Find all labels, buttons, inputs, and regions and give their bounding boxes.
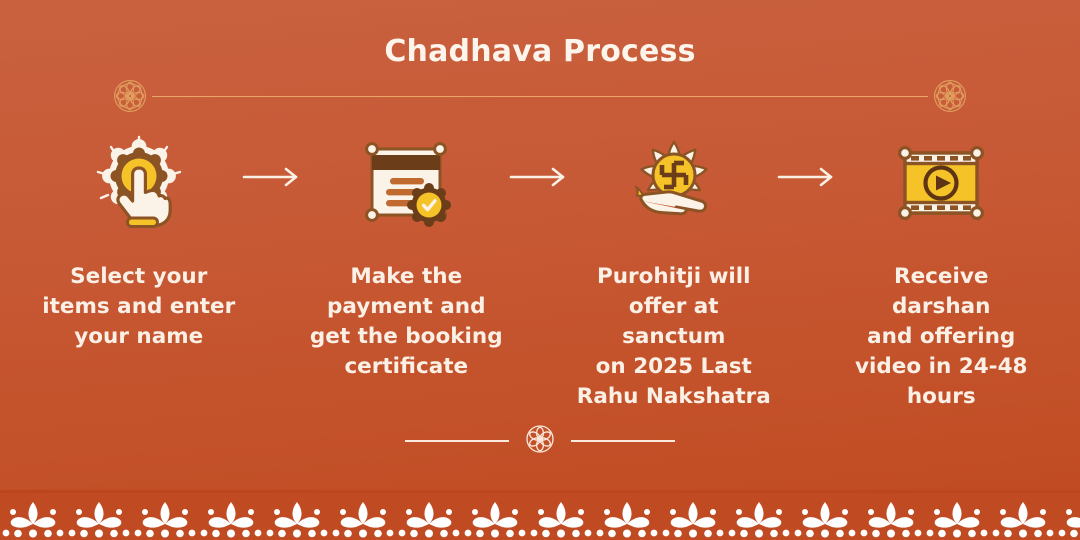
divider-line-left: [405, 440, 509, 441]
arrow-right-icon: [505, 166, 575, 188]
video-play-filmstrip-icon: [891, 132, 991, 236]
process-steps: Select your items and enter your name: [40, 132, 1040, 402]
process-step-label: Select your items and enter your name: [42, 262, 235, 352]
lotus-petal-border: [0, 490, 1080, 540]
divider-line-right: [571, 440, 675, 441]
top-ornamental-rule: [112, 78, 968, 114]
bottom-ornamental-divider: [405, 424, 675, 458]
rosette-flower-icon: [525, 424, 555, 458]
rosette-medallion-icon: [932, 78, 968, 114]
hand-offering-swastika-icon: [624, 132, 724, 236]
arrow-right-icon: [238, 166, 308, 188]
rule-line: [152, 96, 928, 97]
process-step-label: Purohitji will offer at sanctum on 2025 …: [575, 262, 773, 412]
hand-tap-select-icon: [89, 132, 189, 236]
process-step-1: Select your items and enter your name: [40, 132, 238, 352]
process-step-2: Make the payment and get the booking cer…: [308, 132, 506, 382]
page-title: Chadhava Process: [0, 34, 1080, 69]
process-step-label: Receive darshan and offering video in 24…: [843, 262, 1041, 412]
rosette-medallion-icon: [112, 78, 148, 114]
chadhava-process-banner: Chadhava Process: [0, 0, 1080, 540]
process-step-3: Purohitji will offer at sanctum on 2025 …: [575, 132, 773, 412]
band-top-edge: [0, 490, 1080, 493]
process-step-4: Receive darshan and offering video in 24…: [843, 132, 1041, 412]
certificate-seal-icon: [356, 132, 456, 236]
arrow-right-icon: [773, 166, 843, 188]
process-step-label: Make the payment and get the booking cer…: [310, 262, 503, 382]
